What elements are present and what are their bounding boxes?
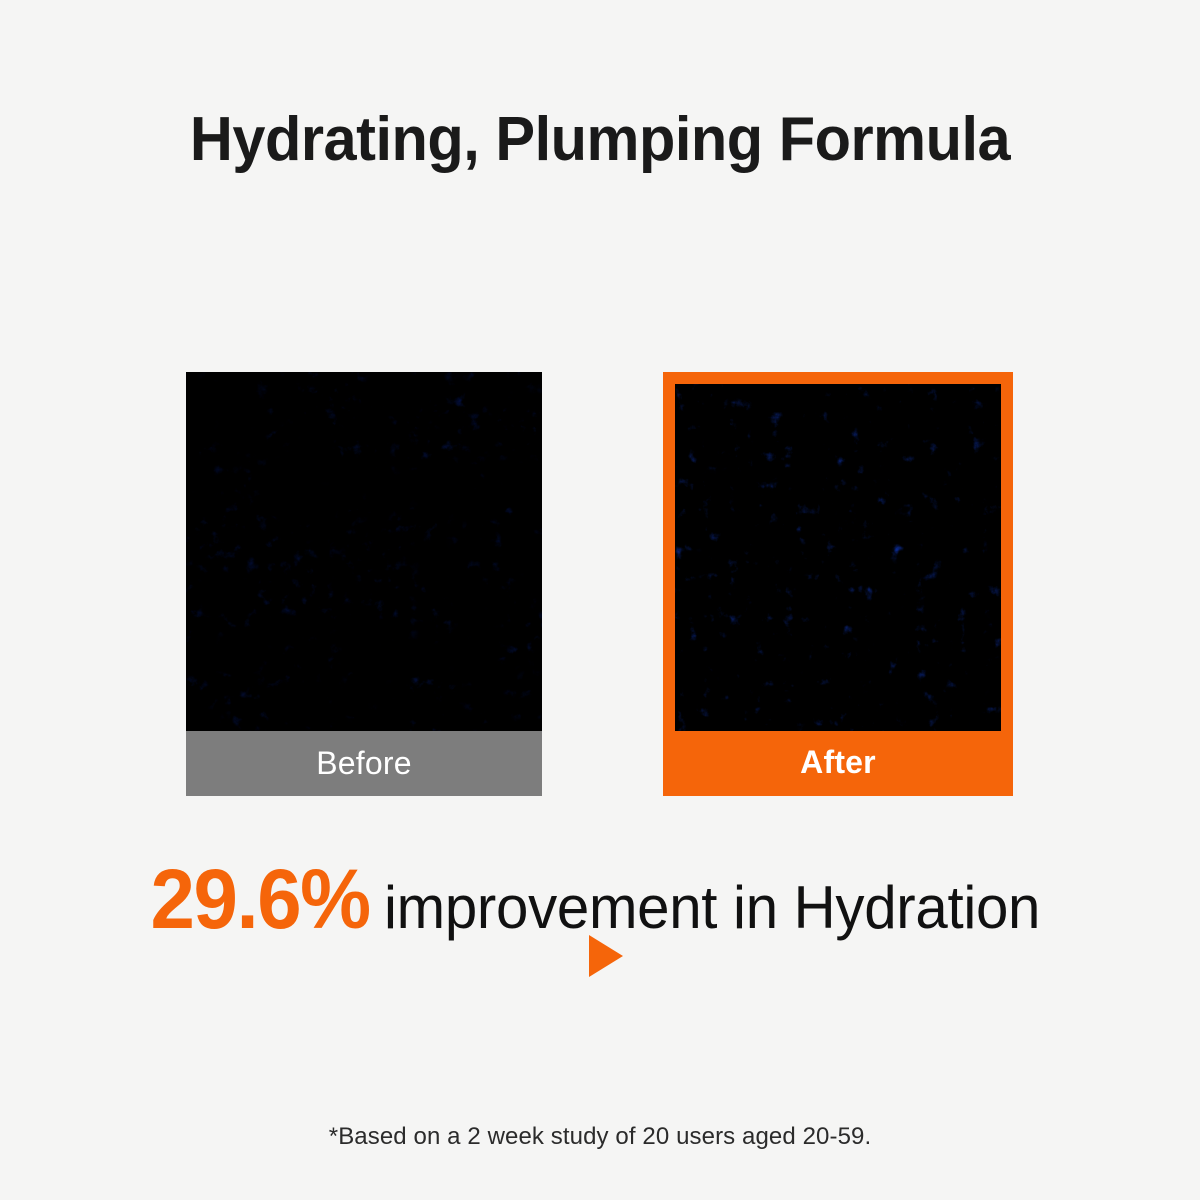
page-title: Hydrating, Plumping Formula xyxy=(24,104,1176,176)
before-micrograph-svg xyxy=(186,372,542,731)
stat-label: improvement in Hydration xyxy=(384,865,1040,951)
after-panel: After xyxy=(663,372,1013,796)
after-micrograph-svg xyxy=(675,384,1001,731)
before-caption-label: Before xyxy=(186,731,542,796)
before-micrograph-image xyxy=(186,372,542,731)
before-after-comparison: Before xyxy=(0,372,1200,796)
after-caption-label: After xyxy=(663,731,1013,796)
after-micrograph-image xyxy=(675,384,1001,731)
infographic-canvas: Hydrating, Plumping Formula xyxy=(0,0,1200,1200)
footnote-disclaimer: *Based on a 2 week study of 20 users age… xyxy=(0,1122,1200,1152)
stat-value: 29.6% xyxy=(151,856,370,942)
stat-line: 29.6%improvement in Hydration xyxy=(0,856,1200,967)
before-panel: Before xyxy=(186,372,542,796)
